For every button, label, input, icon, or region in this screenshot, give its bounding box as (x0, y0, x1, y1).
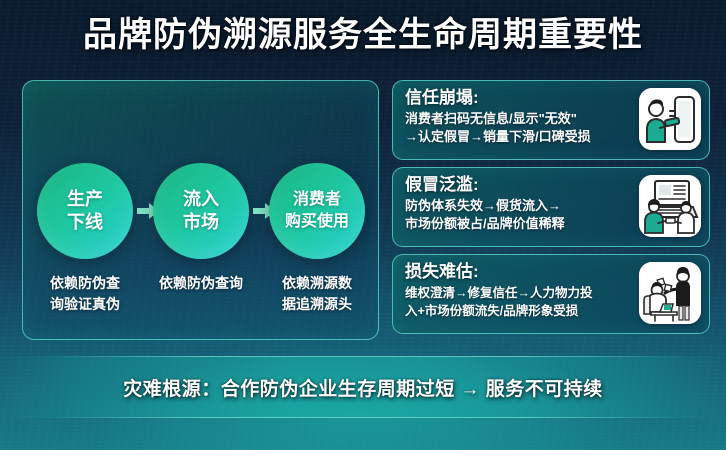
banner-divider-top (42, 356, 684, 357)
office-desk-handover-icon (639, 262, 701, 324)
page-title: 品牌防伪溯源服务全生命周期重要性 (0, 13, 726, 57)
caption-line1: 依赖溯源数 (262, 273, 372, 294)
lifecycle-caption-row: 依赖防伪查 询验证真伪 依赖防伪查询 依赖溯源数 据追溯源头 (23, 273, 378, 329)
two-people-at-computer-icon (639, 175, 701, 237)
node-label-line2: 购买使用 (285, 211, 349, 233)
lifecycle-node-row: 生产 下线 流入 市场 消费者 购买使用 (23, 163, 378, 259)
risk-card-trust-collapse: 信任崩塌: 消费者扫码无信息/显示"无效" →认定假冒→销量下滑/口碑受损 (392, 80, 710, 160)
lifecycle-node-production: 生产 下线 (37, 163, 133, 259)
lifecycle-caption-production: 依赖防伪查 询验证真伪 (30, 273, 140, 315)
banner-divider-bottom (42, 417, 684, 418)
caption-line1: 依赖防伪查询 (146, 273, 256, 294)
infographic-poster: 品牌防伪溯源服务全生命周期重要性 生产 下线 流入 市场 (0, 0, 726, 450)
lifecycle-caption-market: 依赖防伪查询 (146, 273, 256, 294)
node-label-line2: 下线 (67, 211, 103, 234)
person-scanning-phone-icon (639, 88, 701, 150)
root-cause-text: 灾难根源：合作防伪企业生存周期过短 → 服务不可持续 (123, 374, 603, 401)
caption-line2: 询验证真伪 (30, 294, 140, 315)
risk-card-loss-estimation: 损失难估: 维权澄清→修复信任→人力物力投 入+市场份额流失/品牌形象受损 (392, 254, 710, 334)
lifecycle-caption-consumer: 依赖溯源数 据追溯源头 (262, 273, 372, 315)
node-label-line2: 市场 (183, 211, 219, 234)
lifecycle-node-market: 流入 市场 (153, 163, 249, 259)
caption-line2: 据追溯源头 (262, 294, 372, 315)
node-label-line1: 消费者 (293, 189, 341, 211)
risk-card-counterfeit-flood: 假冒泛滥: 防伪体系失效→假货流入→ 市场份额被占/品牌价值稀释 (392, 167, 710, 247)
node-label-line1: 生产 (67, 188, 103, 211)
lifecycle-flow-panel: 生产 下线 流入 市场 消费者 购买使用 (22, 80, 379, 340)
risk-card-list: 信任崩塌: 消费者扫码无信息/显示"无效" →认定假冒→销量下滑/口碑受损 (392, 80, 710, 341)
root-cause-banner: 灾难根源：合作防伪企业生存周期过短 → 服务不可持续 (0, 356, 726, 418)
node-label-line1: 流入 (183, 188, 219, 211)
caption-line1: 依赖防伪查 (30, 273, 140, 294)
lifecycle-node-consumer: 消费者 购买使用 (269, 163, 365, 259)
